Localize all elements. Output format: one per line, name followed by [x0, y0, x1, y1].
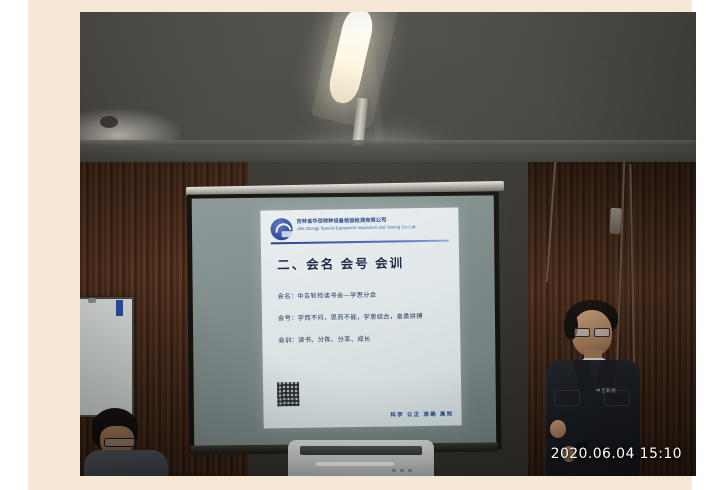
- power-strip: [609, 208, 621, 235]
- projected-slide: 吉林省华岳特种设备检验检测有限公司 Jilin Zhongji Special …: [260, 207, 461, 428]
- company-logo-icon: [270, 218, 292, 240]
- qr-code: [277, 382, 299, 406]
- presenter-hand-left: [550, 420, 566, 438]
- air-conditioner: [288, 440, 434, 476]
- timestamp-overlay: 2020.06.04 15:10: [551, 446, 682, 462]
- presenter-pocket-left: [554, 390, 580, 406]
- slide-body: 会名：中吉轮检读书会—学思分会 会号：学而不问，思而不能，学思结合，奋勇拼搏 会…: [277, 284, 456, 353]
- photograph: 吉林省华岳特种设备检验检测有限公司 Jilin Zhongji Special …: [80, 12, 696, 476]
- slide-body-line-2: 会号：学而不问，思而不能，学思结合，奋勇拼搏: [278, 306, 456, 331]
- whiteboard-marker: [116, 300, 123, 316]
- slide-footer-slogan: 科学 公正 准确 高效: [390, 410, 453, 419]
- slide-header-rule: [271, 240, 449, 244]
- slide-title: 二、会名 会号 会训: [277, 252, 404, 273]
- slide-organization-en: Jilin Zhongji Special Equipment Inspecti…: [297, 224, 449, 232]
- slide-content: 吉林省华岳特种设备检验检测有限公司 Jilin Zhongji Special …: [260, 207, 461, 428]
- whiteboard: [80, 297, 134, 417]
- air-conditioner-indicators: [392, 469, 414, 472]
- attendee-torso: [84, 450, 168, 476]
- slide-body-line-1: 会名：中吉轮检读书会—学思分会: [277, 284, 455, 309]
- attendee-glasses-icon: [104, 438, 136, 447]
- seated-attendee: [86, 408, 178, 476]
- air-conditioner-vent: [300, 446, 422, 455]
- presenter-glasses-icon: [574, 328, 610, 335]
- slide-organization-block: 吉林省华岳特种设备检验检测有限公司 Jilin Zhongji Special …: [296, 217, 448, 232]
- company-logo-badge: [282, 231, 293, 237]
- whiteboard-bracket: [88, 298, 96, 303]
- photo-frame: 吉林省华岳特种设备检验检测有限公司 Jilin Zhongji Special …: [28, 0, 692, 490]
- slide-body-line-3: 会训：读书、分陈、分享、成长: [278, 328, 456, 353]
- screenshot-root: 吉林省华岳特种设备检验检测有限公司 Jilin Zhongji Special …: [0, 0, 720, 490]
- air-conditioner-highlight: [316, 462, 394, 466]
- presenter-jacket-text: 中吉轮检: [596, 388, 617, 394]
- ceiling-vent-dark-spot: [100, 116, 118, 128]
